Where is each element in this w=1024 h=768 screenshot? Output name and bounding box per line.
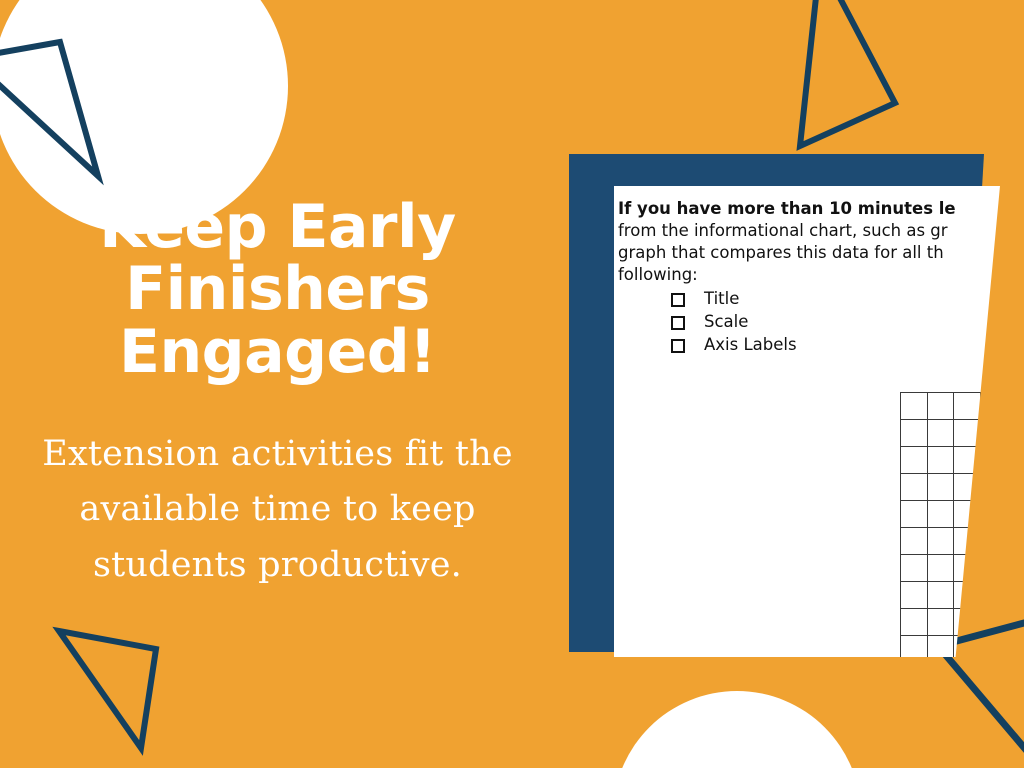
grid-cell	[901, 528, 928, 555]
grid-cell	[927, 447, 954, 474]
worksheet-paragraph-line-1: If you have more than 10 minutes le	[618, 198, 1000, 220]
list-item: Scale	[618, 310, 1000, 333]
grid-cell	[927, 555, 954, 582]
navy-triangle-top-right-icon	[800, 0, 895, 146]
grid-cell	[954, 555, 981, 582]
grid-cell	[927, 393, 954, 420]
grid-cell	[980, 447, 1000, 474]
checkbox-icon[interactable]	[671, 316, 685, 330]
grid-cell	[927, 582, 954, 609]
worksheet-content: If you have more than 10 minutes le from…	[614, 186, 1000, 657]
table-row	[901, 420, 1001, 447]
worksheet-preview: If you have more than 10 minutes le from…	[560, 140, 1024, 670]
grid-cell	[954, 609, 981, 636]
grid-cell	[954, 528, 981, 555]
table-row	[901, 528, 1001, 555]
grid-cell	[980, 636, 1000, 658]
headline-line-2: Finishers	[125, 254, 430, 324]
navy-triangle-top-left-icon	[0, 42, 98, 176]
grid-cell	[980, 555, 1000, 582]
grid-body	[901, 393, 1001, 658]
grid-cell	[927, 420, 954, 447]
grid-cell	[954, 474, 981, 501]
text-column: Keep Early Finishers Engaged! Extension …	[40, 196, 515, 593]
grid-cell	[954, 420, 981, 447]
table-row	[901, 447, 1001, 474]
list-item: Title	[618, 287, 1000, 310]
table-row	[901, 582, 1001, 609]
grid-cell	[954, 501, 981, 528]
grid-cell	[980, 474, 1000, 501]
grid-cell	[901, 555, 928, 582]
grid-cell	[927, 501, 954, 528]
grid-cell	[954, 393, 981, 420]
table-row	[901, 609, 1001, 636]
slide-canvas: Keep Early Finishers Engaged! Extension …	[0, 0, 1024, 768]
grid-cell	[980, 420, 1000, 447]
navy-triangle-bottom-left-icon	[59, 631, 156, 748]
grid-cell	[901, 420, 928, 447]
checkbox-icon[interactable]	[671, 293, 685, 307]
table-row	[901, 636, 1001, 658]
grid-cell	[927, 609, 954, 636]
grid-cell	[901, 393, 928, 420]
worksheet-checklist: Title Scale Axis Labels	[618, 287, 1000, 356]
table-row	[901, 393, 1001, 420]
grid-cell	[980, 528, 1000, 555]
grid-cell	[901, 501, 928, 528]
grid-cell	[901, 474, 928, 501]
grid-cell	[980, 609, 1000, 636]
list-item: Axis Labels	[618, 333, 1000, 356]
worksheet-blank-graph-grid	[900, 392, 1000, 657]
table-row	[901, 501, 1001, 528]
grid-cell	[980, 582, 1000, 609]
table-row	[901, 474, 1001, 501]
grid-cell	[954, 582, 981, 609]
worksheet-paragraph-line-4: following:	[618, 264, 1000, 286]
grid-cell	[901, 582, 928, 609]
grid-cell	[927, 528, 954, 555]
grid-cell	[980, 501, 1000, 528]
grid-cell	[901, 636, 928, 658]
checklist-label: Title	[704, 287, 739, 310]
grid-cell	[980, 393, 1000, 420]
worksheet-paragraph-line-3: graph that compares this data for all th	[618, 242, 1000, 264]
grid-cell	[954, 636, 981, 658]
worksheet-paragraph-line-2: from the informational chart, such as gr	[618, 220, 1000, 242]
table-row	[901, 555, 1001, 582]
grid-cell	[901, 609, 928, 636]
grid-cell	[901, 447, 928, 474]
subtitle-text: Extension activities fit the available t…	[40, 427, 515, 593]
headline-line-3: Engaged!	[119, 317, 436, 387]
checkbox-icon[interactable]	[671, 339, 685, 353]
checklist-label: Axis Labels	[704, 333, 797, 356]
headline-line-1: Keep Early	[99, 192, 455, 262]
grid-cell	[954, 447, 981, 474]
checklist-label: Scale	[704, 310, 748, 333]
white-circle-bottom-center	[613, 691, 861, 768]
grid-cell	[927, 636, 954, 658]
page-title: Keep Early Finishers Engaged!	[40, 196, 515, 383]
grid-cell	[927, 474, 954, 501]
worksheet-page: If you have more than 10 minutes le from…	[614, 186, 1000, 657]
